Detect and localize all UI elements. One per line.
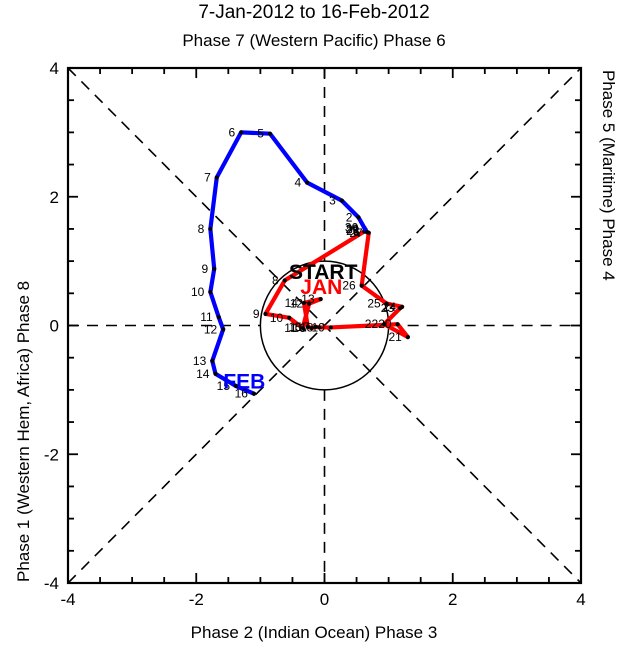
data-point-label: 7 [204,170,211,184]
data-point [215,175,219,179]
data-point-label: 8 [198,222,205,236]
data-point-label: 4 [294,176,301,190]
x-tick-label: -4 [60,590,75,609]
data-point [217,315,221,319]
mjo-phase-diagram: 7-Jan-2012 to 16-Feb-2012 Phase 7 (Weste… [0,0,628,653]
x-tick-label: 0 [320,590,329,609]
y-tick-label: 2 [50,188,59,207]
data-point [210,359,214,363]
x-tick-label: -2 [189,590,204,609]
data-point-label: 10 [270,311,284,325]
data-point [396,322,400,326]
data-point [221,327,225,331]
chart-title-main: 7-Jan-2012 to 16-Feb-2012 [0,2,628,24]
y-tick-label: -4 [44,574,59,593]
y-axis-label-right: Phase 5 (Maritime) Phase 4 [598,70,618,281]
data-point [329,325,333,329]
data-point [340,199,344,203]
jan-annotation: JAN [300,276,342,299]
data-point-label: 21 [389,330,403,344]
data-point-label: 14 [285,296,299,310]
data-point [356,215,360,219]
y-tick-label: -2 [44,445,59,464]
data-point [263,312,267,316]
data-point-label: 19 [312,320,326,334]
x-tick-label: 2 [448,590,457,609]
data-point-label: 6 [228,125,235,139]
y-axis-label-left: Phase 1 (Western Hem, Africa) Phase 8 [14,281,34,582]
data-point-label: 5 [257,127,264,141]
data-point [283,278,287,282]
feb-annotation: FEB [223,371,265,394]
data-point [365,230,369,234]
data-point-label: 22 [365,317,379,331]
y-tick-label: 4 [50,59,59,78]
data-point-label: 25 [367,297,381,311]
data-point [213,372,217,376]
data-point [385,302,389,306]
data-point-label: 8 [272,273,279,287]
data-point-label: 1 [354,225,361,239]
data-point-label: 2 [346,210,353,224]
data-point [212,267,216,271]
data-point [382,322,386,326]
x-tick-label: 4 [576,590,585,609]
data-point [302,301,306,305]
data-point [239,130,243,134]
data-point-label: 14 [196,367,210,381]
chart-title-sub: Phase 7 (Western Pacific) Phase 6 [0,31,628,51]
data-point-label: 9 [202,262,209,276]
data-point-label: 9 [253,307,260,321]
data-point [406,335,410,339]
data-point [208,227,212,231]
x-axis-label: Phase 2 (Indian Ocean) Phase 3 [0,623,628,643]
data-point-label: 3 [329,194,336,208]
data-point [305,180,309,184]
y-tick-label: 0 [50,317,59,336]
data-point [268,132,272,136]
data-point-label: 12 [204,322,218,336]
data-point-label: 10 [191,285,205,299]
data-point [208,290,212,294]
data-point [400,305,404,309]
plot-canvas: -4-2024-4-2024 7891011121314151617181920… [0,0,628,653]
data-point-label: 24 [383,300,397,314]
data-point [360,283,364,287]
